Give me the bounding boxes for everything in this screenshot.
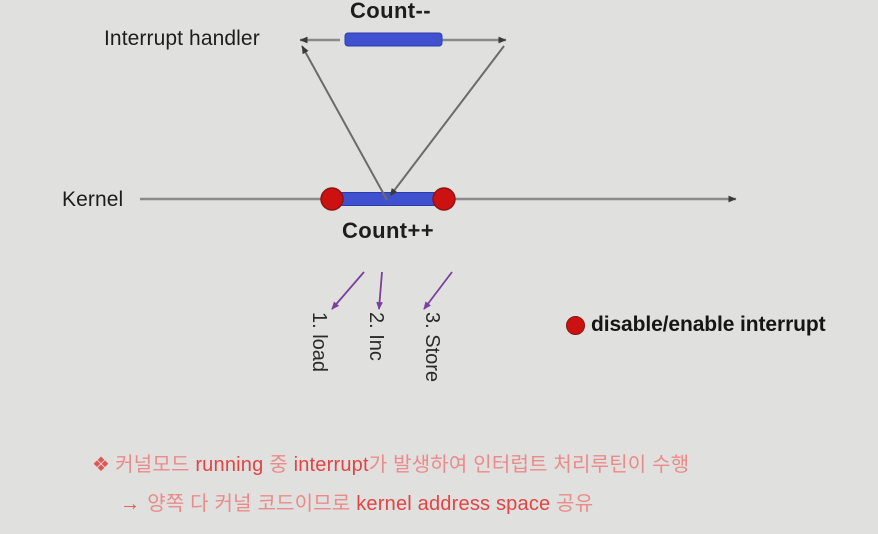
arrow-step-load bbox=[332, 272, 364, 309]
note-line-2: →양쪽 다 커널 코드이므로 kernel address space 공유 bbox=[120, 487, 593, 516]
lane-label-interrupt-handler: Interrupt handler bbox=[104, 27, 260, 51]
enable-interrupt-marker-icon bbox=[433, 188, 455, 210]
note-segment: 중 bbox=[263, 454, 293, 476]
lane-label-kernel: Kernel bbox=[62, 188, 123, 212]
red-circle-icon bbox=[566, 316, 585, 335]
count-increment-label: Count++ bbox=[342, 218, 434, 244]
note-segment: 공유 bbox=[550, 493, 593, 515]
note-line-1: ❖커널모드 running 중 interrupt가 발생하여 인터럽트 처리루… bbox=[92, 448, 689, 477]
interrupt-handler-timeline bbox=[300, 33, 506, 46]
step-label-load: 1. load bbox=[307, 312, 330, 372]
note-bullet-icon: ❖ bbox=[92, 454, 110, 476]
step-label-inc: 2. Inc bbox=[364, 312, 387, 361]
kernel-critical-section-bar bbox=[332, 193, 444, 206]
arrow-step-inc bbox=[379, 272, 382, 309]
disable-interrupt-marker-icon bbox=[321, 188, 343, 210]
interrupt-critical-section-bar bbox=[345, 33, 442, 46]
context-switch-arrows bbox=[302, 46, 504, 200]
note-segment: kernel address space bbox=[356, 493, 550, 515]
note-segment: 양쪽 다 커널 코드이므로 bbox=[147, 493, 356, 515]
note-segment: running bbox=[195, 454, 263, 476]
slide-canvas: Interrupt handler Kernel Count-- Count++… bbox=[0, 0, 878, 534]
step-callout-arrows bbox=[332, 272, 452, 309]
count-decrement-label: Count-- bbox=[350, 0, 431, 24]
note-segment: interrupt bbox=[294, 454, 369, 476]
kernel-timeline bbox=[140, 188, 736, 210]
arrow-step-store bbox=[424, 272, 452, 309]
step-label-store: 3. Store bbox=[420, 312, 443, 382]
note-segment: 커널모드 bbox=[115, 454, 195, 476]
note-arrow-icon: → bbox=[120, 493, 140, 515]
legend: disable/enable interrupt bbox=[566, 313, 826, 337]
legend-label: disable/enable interrupt bbox=[591, 313, 826, 337]
arrow-kernel-to-handler bbox=[302, 46, 387, 200]
arrow-handler-to-kernel bbox=[390, 46, 504, 196]
note-segment: 가 발생하여 인터럽트 처리루틴이 수행 bbox=[369, 454, 690, 476]
